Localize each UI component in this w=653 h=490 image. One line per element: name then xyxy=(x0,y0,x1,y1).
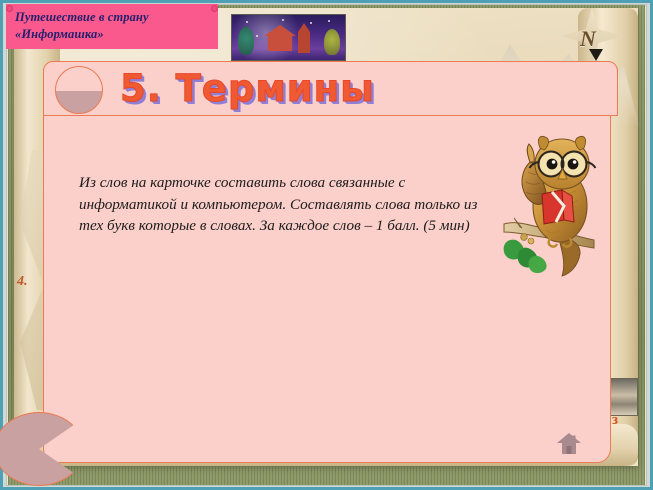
compass-rose-icon: N xyxy=(540,2,645,68)
selection-handle-top-left[interactable] xyxy=(6,5,13,12)
owl-with-book-illustration xyxy=(500,128,600,283)
castle-photo-star xyxy=(246,21,248,23)
background-slide-number-4: 4. xyxy=(17,274,28,290)
compass-needle xyxy=(589,49,603,61)
presentation-title-line1: Путешествие в страну xyxy=(15,9,211,26)
slide-canvas: N 4. з Путешествие в страну «Информашка»… xyxy=(0,0,653,490)
background-partial-char: з xyxy=(612,412,618,429)
fairytale-castle-photo xyxy=(231,14,346,61)
presentation-title-box[interactable]: Путешествие в страну «Информашка» xyxy=(6,4,218,49)
castle-photo-star xyxy=(310,22,312,24)
page-title: 5. Термины xyxy=(120,66,375,112)
castle-photo-tree-right xyxy=(324,29,340,55)
castle-photo-tower xyxy=(298,23,310,53)
home-icon[interactable] xyxy=(556,432,582,456)
task-description-text: Из слов на карточке составить слова связ… xyxy=(79,172,491,237)
castle-photo-tree-left xyxy=(238,27,254,55)
castle-photo-star xyxy=(282,19,284,21)
castle-photo-star xyxy=(256,35,258,37)
half-filled-circle-decoration xyxy=(55,66,103,114)
presentation-title-line2: «Информашка» xyxy=(15,26,211,43)
castle-photo-star xyxy=(328,20,330,22)
selection-handle-top-right[interactable] xyxy=(211,5,218,12)
castle-photo-house xyxy=(264,25,296,51)
background-photo-strip xyxy=(610,378,638,416)
